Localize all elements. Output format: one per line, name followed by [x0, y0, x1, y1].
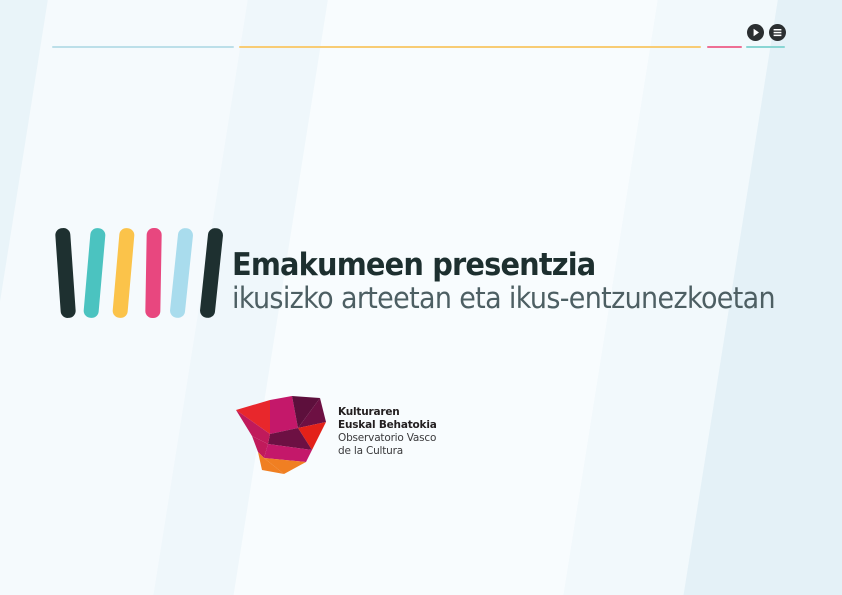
book-bar	[199, 227, 223, 318]
book-bar	[112, 228, 135, 319]
observatory-logo: Kulturaren Euskal Behatokia Observatorio…	[234, 388, 437, 476]
headline-block: Emakumeen presentzia ikusizko arteetan e…	[232, 248, 812, 315]
top-rule-blue	[52, 46, 234, 48]
book-bar	[169, 227, 193, 318]
logo-line-observatorio-vasco: Observatorio Vasco	[338, 432, 437, 445]
book-bar	[55, 228, 76, 319]
kulturaren-euskal-behatokia-mark	[234, 388, 334, 476]
book-bar	[83, 228, 106, 319]
play-icon	[747, 24, 764, 41]
page-title: Emakumeen presentzia	[232, 248, 771, 282]
observatory-logo-text: Kulturaren Euskal Behatokia Observatorio…	[338, 406, 437, 458]
logo-line-kulturaren: Kulturaren	[338, 406, 437, 419]
page-subtitle: ikusizko arteetan eta ikus-entzunezkoeta…	[232, 282, 771, 315]
top-rule-pink	[707, 46, 742, 48]
menu-list-icon	[769, 24, 786, 41]
play-button[interactable]	[747, 24, 764, 41]
logo-line-euskal-behatokia: Euskal Behatokia	[338, 419, 437, 432]
slide-canvas: Emakumeen presentzia ikusizko arteetan e…	[0, 0, 842, 595]
logo-line-de-la-cultura: de la Cultura	[338, 445, 437, 458]
player-controls	[747, 24, 786, 41]
top-rule-teal	[746, 46, 785, 48]
book-bars-logo	[58, 228, 223, 323]
top-rule-orange	[239, 46, 701, 48]
book-bar	[145, 228, 162, 318]
menu-button[interactable]	[769, 24, 786, 41]
